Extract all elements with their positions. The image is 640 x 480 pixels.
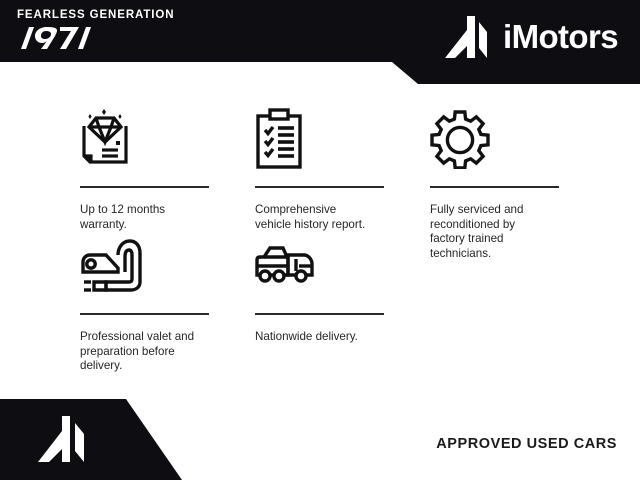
feature-divider (430, 186, 559, 188)
feature-text: Nationwide delivery. (255, 330, 407, 345)
feature-text: Comprehensive vehicle history report. (255, 203, 407, 232)
brand-name: iMotors (503, 20, 618, 54)
car-transporter-truck-icon (255, 233, 430, 299)
feature-text: Fully serviced and reconditioned by fact… (430, 203, 582, 261)
gear-cog-icon (430, 106, 605, 172)
header-tagline: FEARLESS GENERATION (17, 8, 174, 22)
feature-item-serviced: Fully serviced and reconditioned by fact… (430, 106, 605, 261)
header-left-group: FEARLESS GENERATION (17, 8, 174, 56)
clipboard-checklist-icon (255, 106, 430, 172)
brand-lockup: iMotors (445, 14, 618, 60)
imotors-a-chevron-logo (445, 14, 493, 60)
imotors-a-chevron-logo-footer (38, 414, 90, 464)
footer-black-shape (0, 399, 182, 480)
feature-item-history-report: Comprehensive vehicle history report. (255, 106, 430, 232)
warranty-diamond-certificate-icon (80, 106, 255, 172)
vacuum-cleaner-icon (80, 233, 255, 299)
feature-text: Up to 12 months warranty. (80, 203, 232, 232)
feature-divider (80, 313, 209, 315)
1971-slash-logo (17, 25, 91, 51)
feature-item-valet: Professional valet and preparation befor… (80, 233, 255, 374)
promo-banner: FEARLESS GENERATION iMotors (0, 0, 640, 480)
feature-divider (255, 313, 384, 315)
feature-divider (255, 186, 384, 188)
feature-item-warranty: Up to 12 months warranty. (80, 106, 255, 232)
feature-divider (80, 186, 209, 188)
feature-text: Professional valet and preparation befor… (80, 330, 232, 374)
footer-tagline: APPROVED USED CARS (436, 436, 617, 452)
feature-item-delivery: Nationwide delivery. (255, 233, 430, 345)
